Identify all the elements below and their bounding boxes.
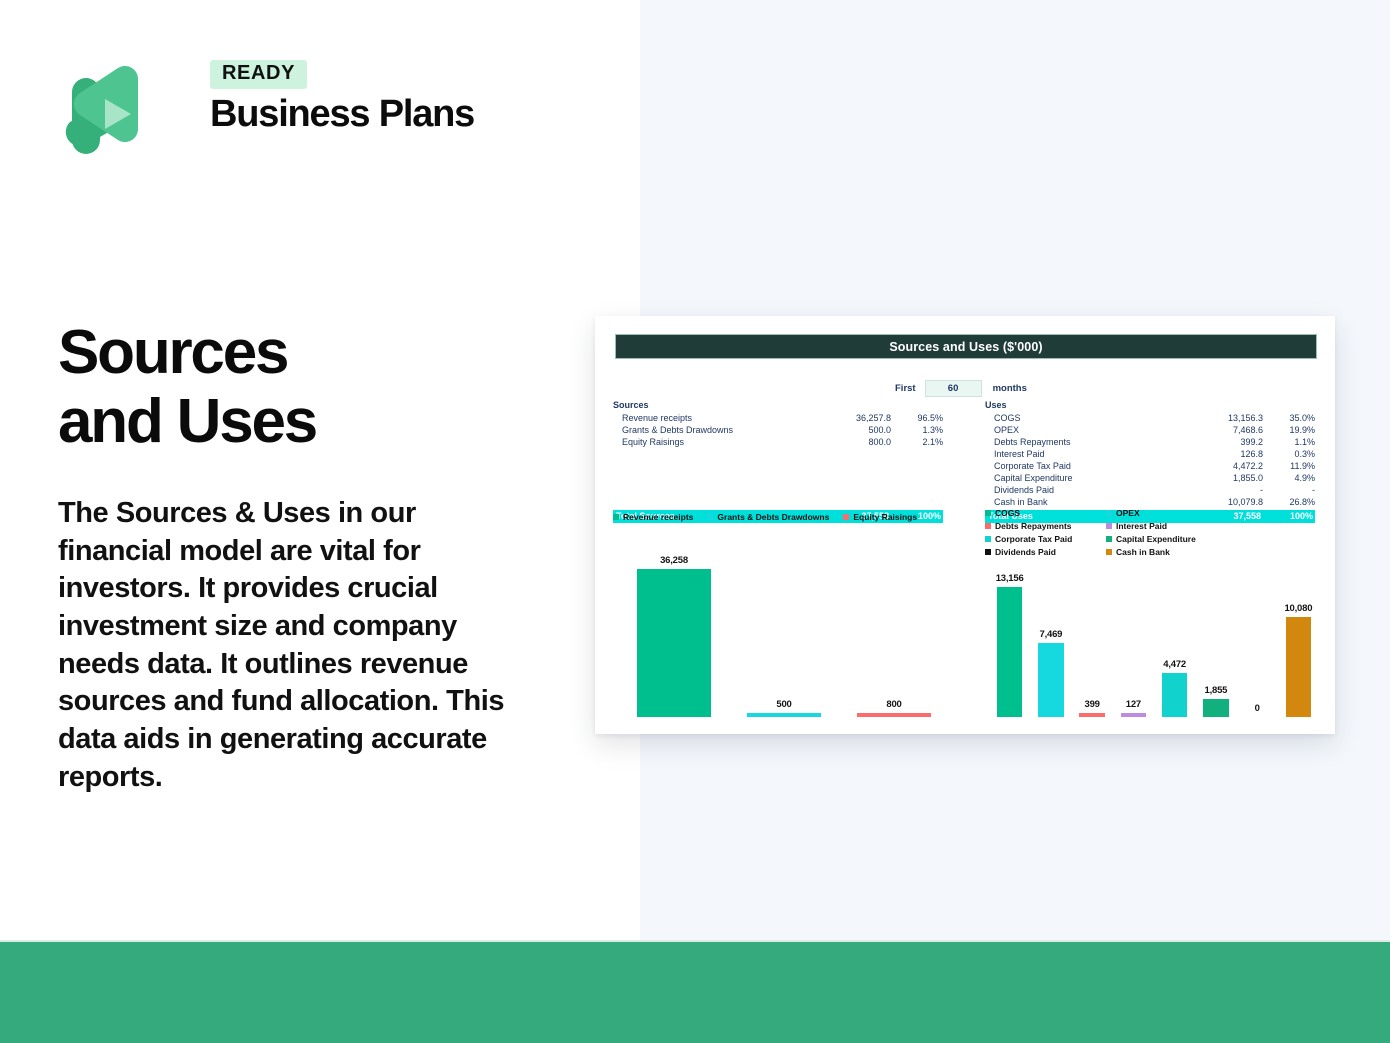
bar-group: 10,080 bbox=[1278, 547, 1319, 717]
row-percent: 35.0% bbox=[1263, 412, 1315, 424]
bar-value-label: 399 bbox=[1084, 699, 1099, 710]
uses-table-heading: Uses bbox=[985, 400, 1315, 410]
uses-bar-chart: 13,1567,4693991274,4721,855010,080 bbox=[989, 547, 1319, 717]
row-label: Corporate Tax Paid bbox=[985, 460, 1185, 472]
row-value: 500.0 bbox=[813, 424, 891, 436]
row-value: 36,257.8 bbox=[813, 412, 891, 424]
row-value: 399.2 bbox=[1185, 436, 1263, 448]
table-row: Equity Raisings800.02.1% bbox=[613, 436, 943, 448]
bar-value-label: 800 bbox=[886, 699, 901, 710]
row-value: 4,472.2 bbox=[1185, 460, 1263, 472]
bar[interactable] bbox=[1162, 673, 1188, 717]
row-label: OPEX bbox=[985, 424, 1185, 436]
row-value: 800.0 bbox=[813, 436, 891, 448]
legend-item[interactable]: OPEX bbox=[1106, 508, 1227, 518]
legend-label: Debts Repayments bbox=[995, 521, 1072, 531]
legend-label: Grants & Debts Drawdowns bbox=[717, 512, 829, 522]
page-title: Sources and Uses bbox=[58, 318, 598, 457]
legend-label: Interest Paid bbox=[1116, 521, 1167, 531]
bar[interactable] bbox=[997, 587, 1023, 717]
bar[interactable] bbox=[1203, 699, 1229, 717]
legend-item[interactable]: Debts Repayments bbox=[985, 521, 1106, 531]
bar-group: 1,855 bbox=[1195, 547, 1236, 717]
legend-swatch-icon bbox=[707, 514, 713, 520]
sources-table-rows: Revenue receipts36,257.896.5%Grants & De… bbox=[613, 412, 943, 448]
legend-swatch-icon bbox=[985, 536, 991, 542]
bar-group: 0 bbox=[1237, 547, 1278, 717]
row-label: Cash in Bank bbox=[985, 496, 1185, 508]
sources-table-spacer-3 bbox=[613, 472, 943, 484]
bar-value-label: 4,472 bbox=[1163, 659, 1186, 670]
legend-swatch-icon bbox=[1106, 523, 1112, 529]
card-title-bar: Sources and Uses ($'000) bbox=[615, 334, 1317, 359]
legend-item[interactable]: COGS bbox=[985, 508, 1106, 518]
bar[interactable] bbox=[747, 713, 822, 717]
row-percent: 26.8% bbox=[1263, 496, 1315, 508]
table-row: Revenue receipts36,257.896.5% bbox=[613, 412, 943, 424]
page-title-line-1: Sources bbox=[58, 318, 598, 387]
table-row: Cash in Bank10,079.826.8% bbox=[985, 496, 1315, 508]
legend-swatch-icon bbox=[985, 510, 991, 516]
table-row: Corporate Tax Paid4,472.211.9% bbox=[985, 460, 1315, 472]
sources-table: Sources Revenue receipts36,257.896.5%Gra… bbox=[613, 400, 943, 523]
row-percent: 4.9% bbox=[1263, 472, 1315, 484]
legend-label: COGS bbox=[995, 508, 1020, 518]
sources-table-spacer-2 bbox=[613, 460, 943, 472]
row-value: - bbox=[1185, 484, 1263, 496]
bottom-green-band bbox=[0, 942, 1390, 1043]
bar-value-label: 500 bbox=[776, 699, 791, 710]
sources-table-heading: Sources bbox=[613, 400, 943, 410]
bar-group: 800 bbox=[839, 547, 949, 717]
legend-swatch-icon bbox=[843, 514, 849, 520]
table-row: COGS13,156.335.0% bbox=[985, 412, 1315, 424]
row-percent: - bbox=[1263, 484, 1315, 496]
row-percent: 96.5% bbox=[891, 412, 943, 424]
row-percent: 19.9% bbox=[1263, 424, 1315, 436]
bar[interactable] bbox=[637, 569, 712, 717]
row-label: Capital Expenditure bbox=[985, 472, 1185, 484]
row-label: Dividends Paid bbox=[985, 484, 1185, 496]
bar-group: 7,469 bbox=[1030, 547, 1071, 717]
legend-label: Corporate Tax Paid bbox=[995, 534, 1072, 544]
sources-table-spacer bbox=[613, 448, 943, 460]
sources-table-spacer-4 bbox=[613, 484, 943, 496]
brand-logo: READY Business Plans bbox=[58, 58, 438, 166]
sources-bar-chart: 36,258500800 bbox=[619, 547, 949, 717]
legend-label: Revenue receipts bbox=[623, 512, 693, 522]
table-row: OPEX7,468.619.9% bbox=[985, 424, 1315, 436]
row-value: 7,468.6 bbox=[1185, 424, 1263, 436]
period-months-value: 60 bbox=[948, 383, 959, 394]
legend-item[interactable]: Interest Paid bbox=[1106, 521, 1227, 531]
row-label: Grants & Debts Drawdowns bbox=[613, 424, 813, 436]
bar-value-label: 127 bbox=[1126, 699, 1141, 710]
row-percent: 1.3% bbox=[891, 424, 943, 436]
bar-value-label: 13,156 bbox=[996, 573, 1024, 584]
bar-group: 36,258 bbox=[619, 547, 729, 717]
legend-label: OPEX bbox=[1116, 508, 1140, 518]
row-label: Revenue receipts bbox=[613, 412, 813, 424]
bar-value-label: 7,469 bbox=[1039, 629, 1062, 640]
table-row: Capital Expenditure1,855.04.9% bbox=[985, 472, 1315, 484]
bar-value-label: 1,855 bbox=[1204, 685, 1227, 696]
period-suffix: months bbox=[993, 383, 1027, 394]
row-value: 10,079.8 bbox=[1185, 496, 1263, 508]
row-percent: 11.9% bbox=[1263, 460, 1315, 472]
period-months-input[interactable]: 60 bbox=[925, 380, 982, 397]
row-label: COGS bbox=[985, 412, 1185, 424]
card-title: Sources and Uses ($'000) bbox=[889, 340, 1042, 354]
legend-swatch-icon bbox=[1106, 510, 1112, 516]
play-triangle-logo-icon bbox=[58, 58, 152, 158]
table-row: Dividends Paid-- bbox=[985, 484, 1315, 496]
row-percent: 2.1% bbox=[891, 436, 943, 448]
legend-item[interactable]: Revenue receipts bbox=[613, 512, 693, 522]
body-paragraph: The Sources & Uses in our financial mode… bbox=[58, 495, 513, 797]
table-row: Debts Repayments399.21.1% bbox=[985, 436, 1315, 448]
bar-value-label: 36,258 bbox=[660, 555, 688, 566]
legend-item[interactable]: Capital Expenditure bbox=[1106, 534, 1227, 544]
row-percent: 0.3% bbox=[1263, 448, 1315, 460]
row-percent: 1.1% bbox=[1263, 436, 1315, 448]
bar[interactable] bbox=[1121, 713, 1147, 717]
ready-badge: READY bbox=[210, 60, 307, 89]
legend-item[interactable]: Grants & Debts Drawdowns bbox=[707, 512, 829, 522]
bar-value-label: 10,080 bbox=[1284, 603, 1312, 614]
row-value: 13,156.3 bbox=[1185, 412, 1263, 424]
brand-name: Business Plans bbox=[210, 95, 500, 135]
sources-chart-legend: Revenue receiptsGrants & Debts Drawdowns… bbox=[613, 512, 953, 522]
uses-table: Uses COGS13,156.335.0%OPEX7,468.619.9%De… bbox=[985, 400, 1315, 523]
legend-label: Equity Raisings bbox=[853, 512, 917, 522]
bar-group: 500 bbox=[729, 547, 839, 717]
period-label: First bbox=[895, 383, 916, 394]
bar-group: 13,156 bbox=[989, 547, 1030, 717]
sources-table-spacer-5 bbox=[613, 496, 943, 508]
row-label: Debts Repayments bbox=[985, 436, 1185, 448]
table-row: Grants & Debts Drawdowns500.01.3% bbox=[613, 424, 943, 436]
bar[interactable] bbox=[1038, 643, 1064, 717]
table-row: Interest Paid126.80.3% bbox=[985, 448, 1315, 460]
sources-and-uses-card: Sources and Uses ($'000) First 60 months… bbox=[595, 316, 1335, 734]
bar-value-label: 0 bbox=[1255, 703, 1260, 714]
bar-group: 4,472 bbox=[1154, 547, 1195, 717]
legend-item[interactable]: Equity Raisings bbox=[843, 512, 917, 522]
legend-label: Capital Expenditure bbox=[1116, 534, 1196, 544]
bar[interactable] bbox=[857, 713, 932, 717]
legend-swatch-icon bbox=[985, 523, 991, 529]
bar[interactable] bbox=[1286, 617, 1312, 717]
row-label: Equity Raisings bbox=[613, 436, 813, 448]
legend-swatch-icon bbox=[1106, 536, 1112, 542]
legend-item[interactable]: Corporate Tax Paid bbox=[985, 534, 1106, 544]
bar-group: 399 bbox=[1072, 547, 1113, 717]
period-selector: First 60 months bbox=[895, 380, 1027, 397]
page-title-line-2: and Uses bbox=[58, 387, 598, 456]
legend-swatch-icon bbox=[613, 514, 619, 520]
brand-wordmark: READY Business Plans bbox=[210, 60, 500, 135]
row-value: 1,855.0 bbox=[1185, 472, 1263, 484]
uses-table-rows: COGS13,156.335.0%OPEX7,468.619.9%Debts R… bbox=[985, 412, 1315, 508]
bar-group: 127 bbox=[1113, 547, 1154, 717]
bar[interactable] bbox=[1079, 713, 1105, 717]
row-label: Interest Paid bbox=[985, 448, 1185, 460]
row-value: 126.8 bbox=[1185, 448, 1263, 460]
